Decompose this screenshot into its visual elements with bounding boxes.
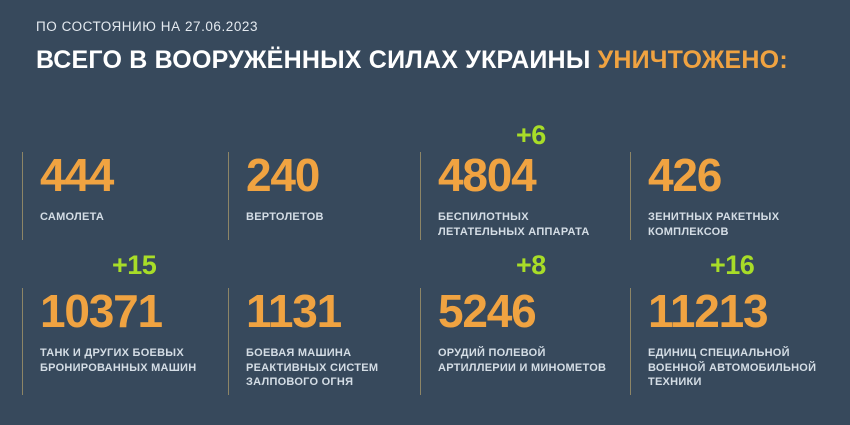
delta-badge: +15 <box>112 252 156 279</box>
infographic-poster: ПО СОСТОЯНИЮ НА 27.06.2023 ВСЕГО В ВООРУ… <box>0 0 850 425</box>
column-divider <box>228 152 229 240</box>
page-title-main: ВСЕГО В ВООРУЖЁННЫХ СИЛАХ УКРАИНЫ <box>36 46 591 74</box>
stat-label: ЗЕНИТНЫХ РАКЕТНЫХ КОМПЛЕКСОВ <box>648 210 779 239</box>
column-divider <box>420 152 421 240</box>
stat-value: 1131 <box>246 288 341 334</box>
column-divider <box>420 288 421 395</box>
delta-badge: +16 <box>710 252 754 279</box>
column-divider <box>22 152 23 240</box>
delta-badge: +6 <box>516 122 546 149</box>
stat-card: 444 САМОЛЕТА <box>22 122 228 252</box>
stat-label: ЕДИНИЦ СПЕЦИАЛЬНОЙ ВОЕННОЙ АВТОМОБИЛЬНОЙ… <box>648 346 816 390</box>
stat-label: БЕСПИЛОТНЫХ ЛЕТАТЕЛЬНЫХ АППАРАТА <box>438 210 590 239</box>
column-divider <box>22 288 23 395</box>
header: ПО СОСТОЯНИЮ НА 27.06.2023 ВСЕГО В ВООРУ… <box>36 18 830 74</box>
stat-value: 426 <box>648 152 721 198</box>
page-title-accent: УНИЧТОЖЕНО: <box>598 46 788 74</box>
stat-card: +6 4804 БЕСПИЛОТНЫХ ЛЕТАТЕЛЬНЫХ АППАРАТА <box>420 122 630 252</box>
stat-label: ВЕРТОЛЕТОВ <box>246 210 324 225</box>
page-title: ВСЕГО В ВООРУЖЁННЫХ СИЛАХ УКРАИНЫ УНИЧТО… <box>36 46 830 75</box>
column-divider <box>630 152 631 240</box>
column-divider <box>630 288 631 395</box>
stat-label: САМОЛЕТА <box>40 210 104 225</box>
stat-label: ОРУДИЙ ПОЛЕВОЙ АРТИЛЛЕРИИ И МИНОМЕТОВ <box>438 346 606 375</box>
stat-label: БОЕВАЯ МАШИНА РЕАКТИВНЫХ СИСТЕМ ЗАЛПОВОГ… <box>246 346 378 390</box>
stat-card: 240 ВЕРТОЛЕТОВ <box>228 122 420 252</box>
report-date: ПО СОСТОЯНИЮ НА 27.06.2023 <box>36 18 830 36</box>
stat-card: +16 11213 ЕДИНИЦ СПЕЦИАЛЬНОЙ ВОЕННОЙ АВТ… <box>630 252 840 382</box>
stat-value: 11213 <box>648 288 767 334</box>
stat-value: 240 <box>246 152 319 198</box>
stat-value: 4804 <box>438 152 536 198</box>
stat-card: +8 5246 ОРУДИЙ ПОЛЕВОЙ АРТИЛЛЕРИИ И МИНО… <box>420 252 630 382</box>
delta-badge: +8 <box>516 252 546 279</box>
stat-card: 426 ЗЕНИТНЫХ РАКЕТНЫХ КОМПЛЕКСОВ <box>630 122 840 252</box>
stat-value: 10371 <box>40 288 162 334</box>
stat-card: +15 10371 ТАНК И ДРУГИХ БОЕВЫХ БРОНИРОВА… <box>22 252 228 382</box>
stat-value: 5246 <box>438 288 536 334</box>
stat-value: 444 <box>40 152 113 198</box>
stats-row-2: +15 10371 ТАНК И ДРУГИХ БОЕВЫХ БРОНИРОВА… <box>0 252 850 382</box>
column-divider <box>228 288 229 395</box>
stat-label: ТАНК И ДРУГИХ БОЕВЫХ БРОНИРОВАННЫХ МАШИН <box>40 346 196 375</box>
stats-row-1: 444 САМОЛЕТА 240 ВЕРТОЛЕТОВ +6 4804 БЕСП… <box>0 122 850 252</box>
stat-card: 1131 БОЕВАЯ МАШИНА РЕАКТИВНЫХ СИСТЕМ ЗАЛ… <box>228 252 420 382</box>
